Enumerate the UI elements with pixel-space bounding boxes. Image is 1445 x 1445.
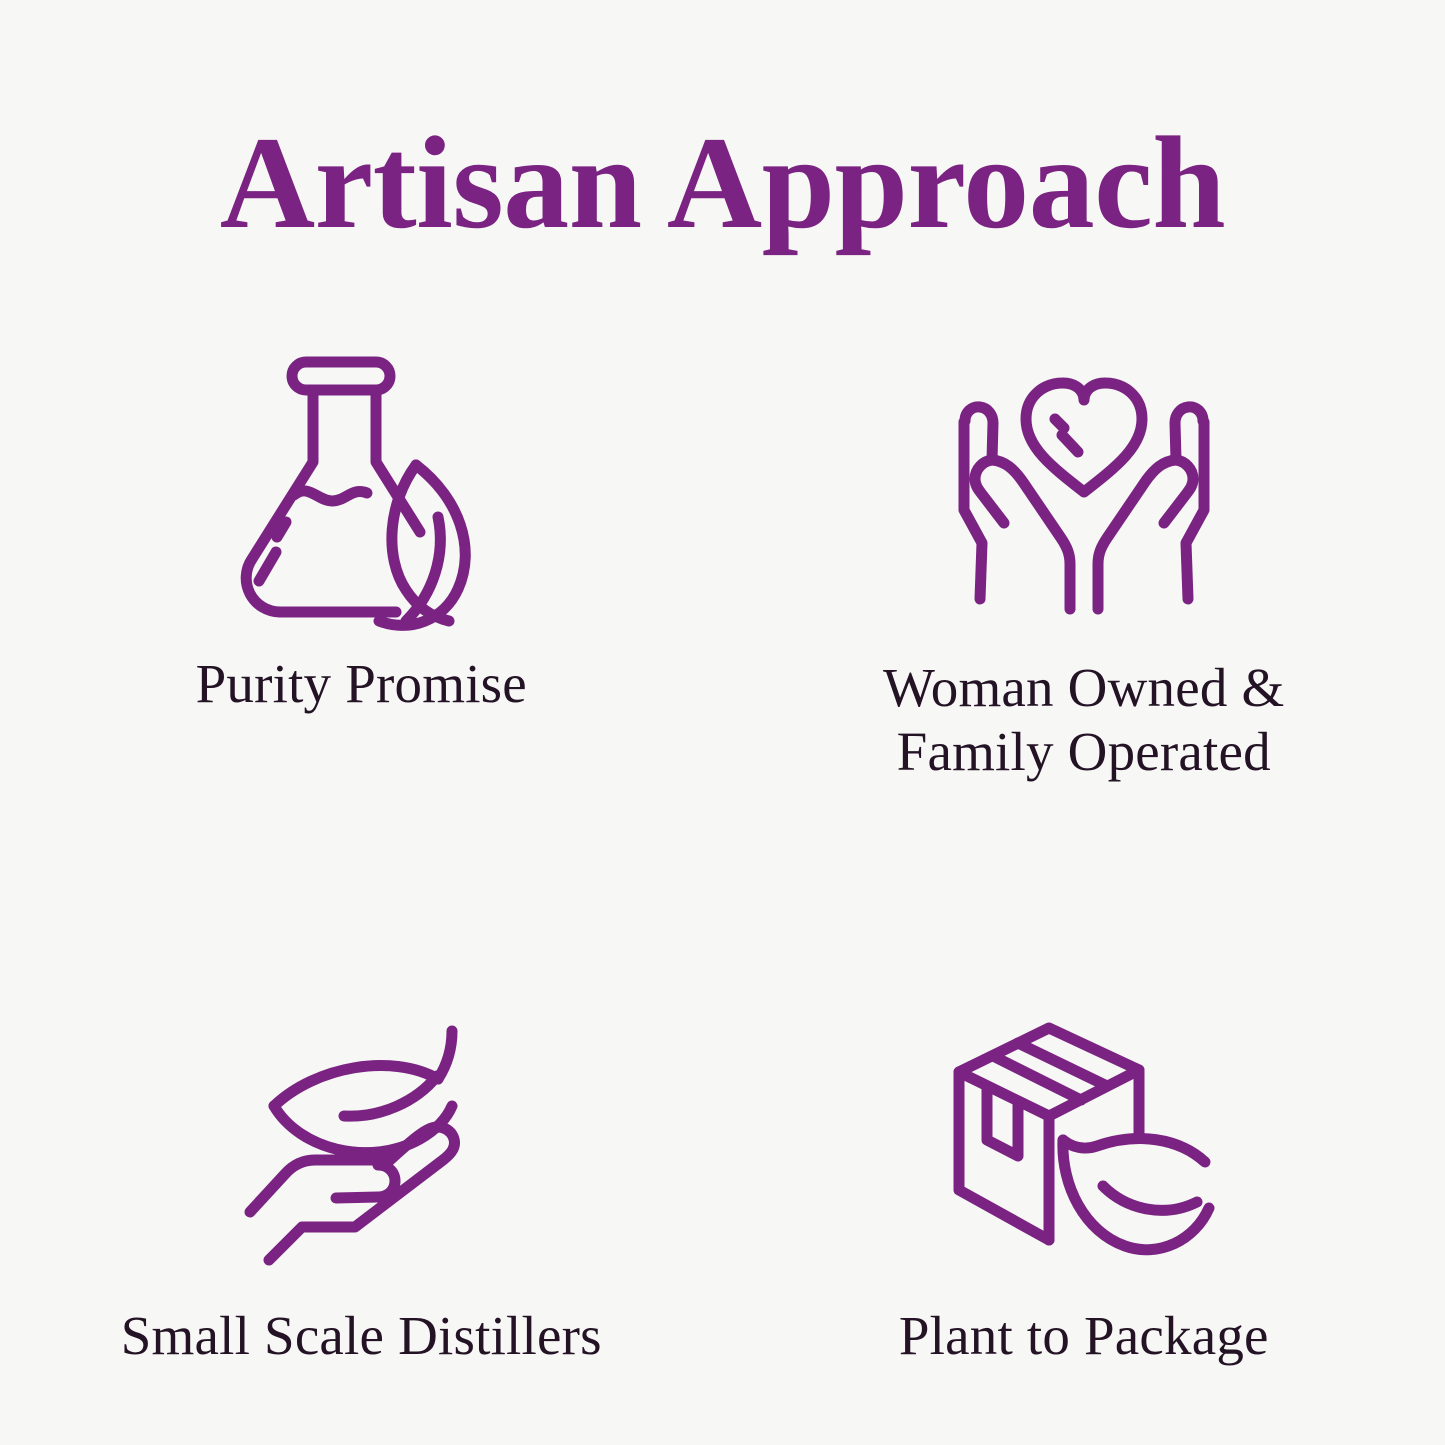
feature-plant-to-package: Plant to Package <box>723 784 1445 1368</box>
package-box-leaf-icon <box>934 1006 1234 1276</box>
feature-purity-promise: Purity Promise <box>0 340 723 784</box>
feature-label: Small Scale Distillers <box>121 1304 602 1368</box>
feature-label: Plant to Package <box>899 1304 1269 1368</box>
flask-leaf-icon <box>211 340 511 630</box>
feature-woman-owned-family-operated: Woman Owned & Family Operated <box>723 340 1445 784</box>
hands-holding-heart-icon <box>934 344 1234 634</box>
artisan-approach-panel: Artisan Approach <box>0 0 1445 1445</box>
page-title: Artisan Approach <box>0 108 1445 258</box>
feature-grid: Purity Promise <box>0 340 1445 1340</box>
feature-small-scale-distillers: Small Scale Distillers <box>0 784 723 1368</box>
hand-holding-leaf-icon <box>211 1006 511 1276</box>
feature-label: Purity Promise <box>196 652 527 716</box>
feature-label: Woman Owned & Family Operated <box>883 656 1284 784</box>
